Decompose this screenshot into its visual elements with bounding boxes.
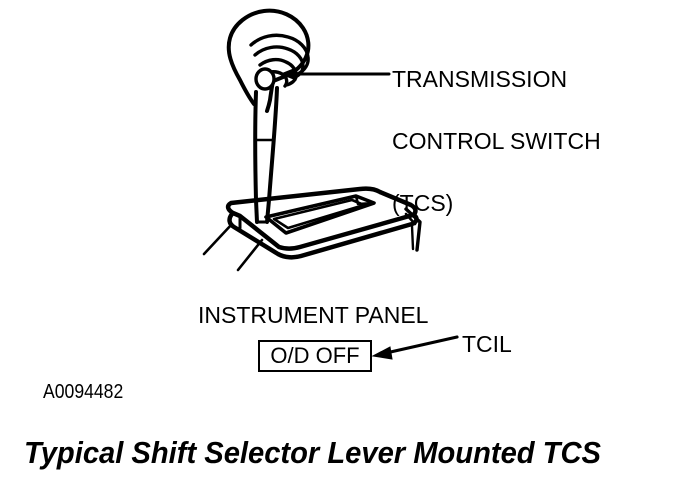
tcs-callout-line-1: TRANSMISSION [392,66,601,92]
figure-caption: Typical Shift Selector Lever Mounted TCS [24,435,601,471]
tcs-callout-line-3: (TCS) [392,190,601,216]
od-off-indicator: O/D OFF [258,340,372,372]
tcil-callout-label: TCIL [462,331,512,358]
transmission-control-switch-button[interactable] [256,69,274,89]
shift-gate-slot [266,196,374,233]
od-off-indicator-text: O/D OFF [260,342,370,370]
unlabeled-leader-lines [204,224,262,270]
part-number: A0094482 [43,381,123,404]
tcil-arrowhead [373,347,392,359]
technical-illustration: TRANSMISSION CONTROL SWITCH (TCS) INSTRU… [0,0,688,480]
instrument-panel-label: INSTRUMENT PANEL [198,302,428,329]
tcs-callout-label: TRANSMISSION CONTROL SWITCH (TCS) [392,30,601,252]
tcs-callout-line-2: CONTROL SWITCH [392,128,601,154]
tcil-leader-line [373,337,457,359]
